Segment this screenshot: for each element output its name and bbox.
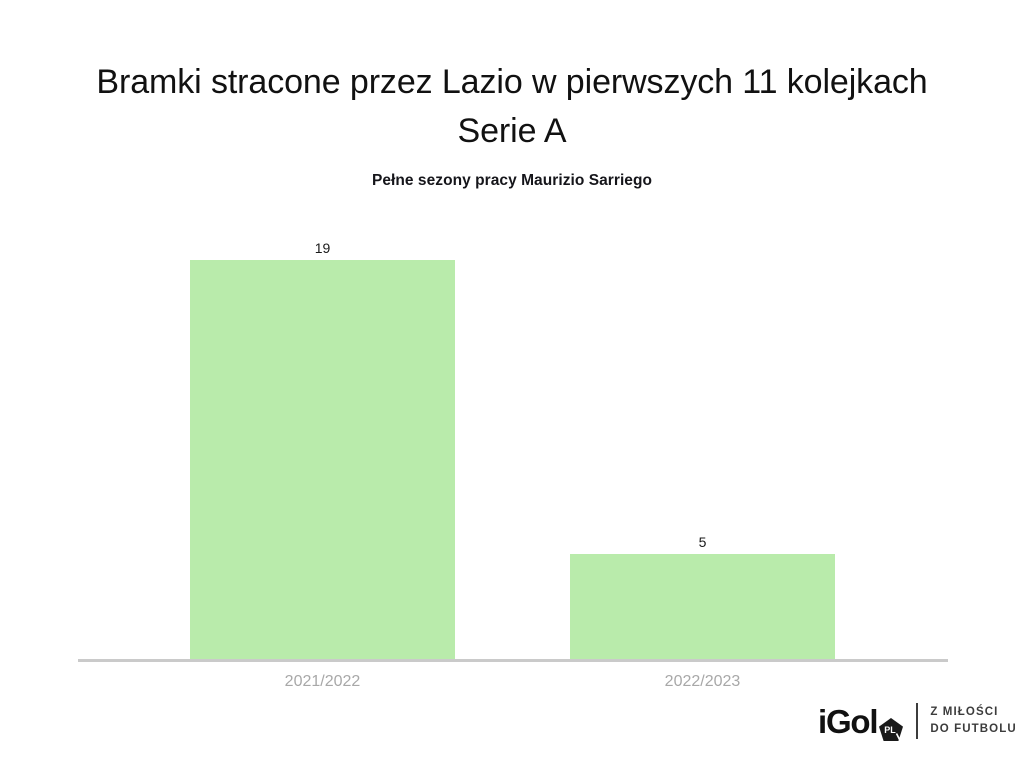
logo-tagline: Z MIŁOŚCI DO FUTBOLU — [930, 704, 1016, 739]
bar-value-label: 19 — [190, 240, 455, 256]
bar-value-label: 5 — [570, 534, 835, 550]
pentagon-pl-badge-icon: PL — [878, 717, 904, 743]
logo-wordmark: iGol — [818, 705, 877, 738]
chart-subtitle: Pełne sezony pracy Maurizio Sarriego — [62, 172, 962, 190]
logo-tagline-line1: Z MIŁOŚCI — [930, 706, 998, 718]
x-axis-tick-label-2022-2023: 2022/2023 — [570, 673, 835, 691]
bar-rect[interactable] — [570, 554, 835, 660]
bar-chart-figure: Bramki stracone przez Lazio w pierwszych… — [0, 0, 1024, 768]
x-axis-line — [78, 659, 948, 662]
title-block: Bramki stracone przez Lazio w pierwszych… — [62, 58, 962, 157]
bar-group-2022-2023: 5 — [570, 210, 835, 660]
logo-tagline-line2: DO FUTBOLU — [930, 723, 1016, 735]
plot-area: 19 5 — [78, 210, 948, 660]
bars-layer: 19 5 — [78, 210, 948, 660]
svg-text:PL: PL — [885, 725, 897, 735]
chart-title: Bramki stracone przez Lazio w pierwszych… — [62, 58, 962, 157]
x-axis-tick-label-2021-2022: 2021/2022 — [190, 673, 455, 691]
bar-rect[interactable] — [190, 260, 455, 660]
bar-group-2021-2022: 19 — [190, 210, 455, 660]
logo-divider — [916, 703, 918, 739]
igol-logo: iGol PL Z MIŁOŚCI DO FUTBOLU — [818, 698, 1017, 744]
